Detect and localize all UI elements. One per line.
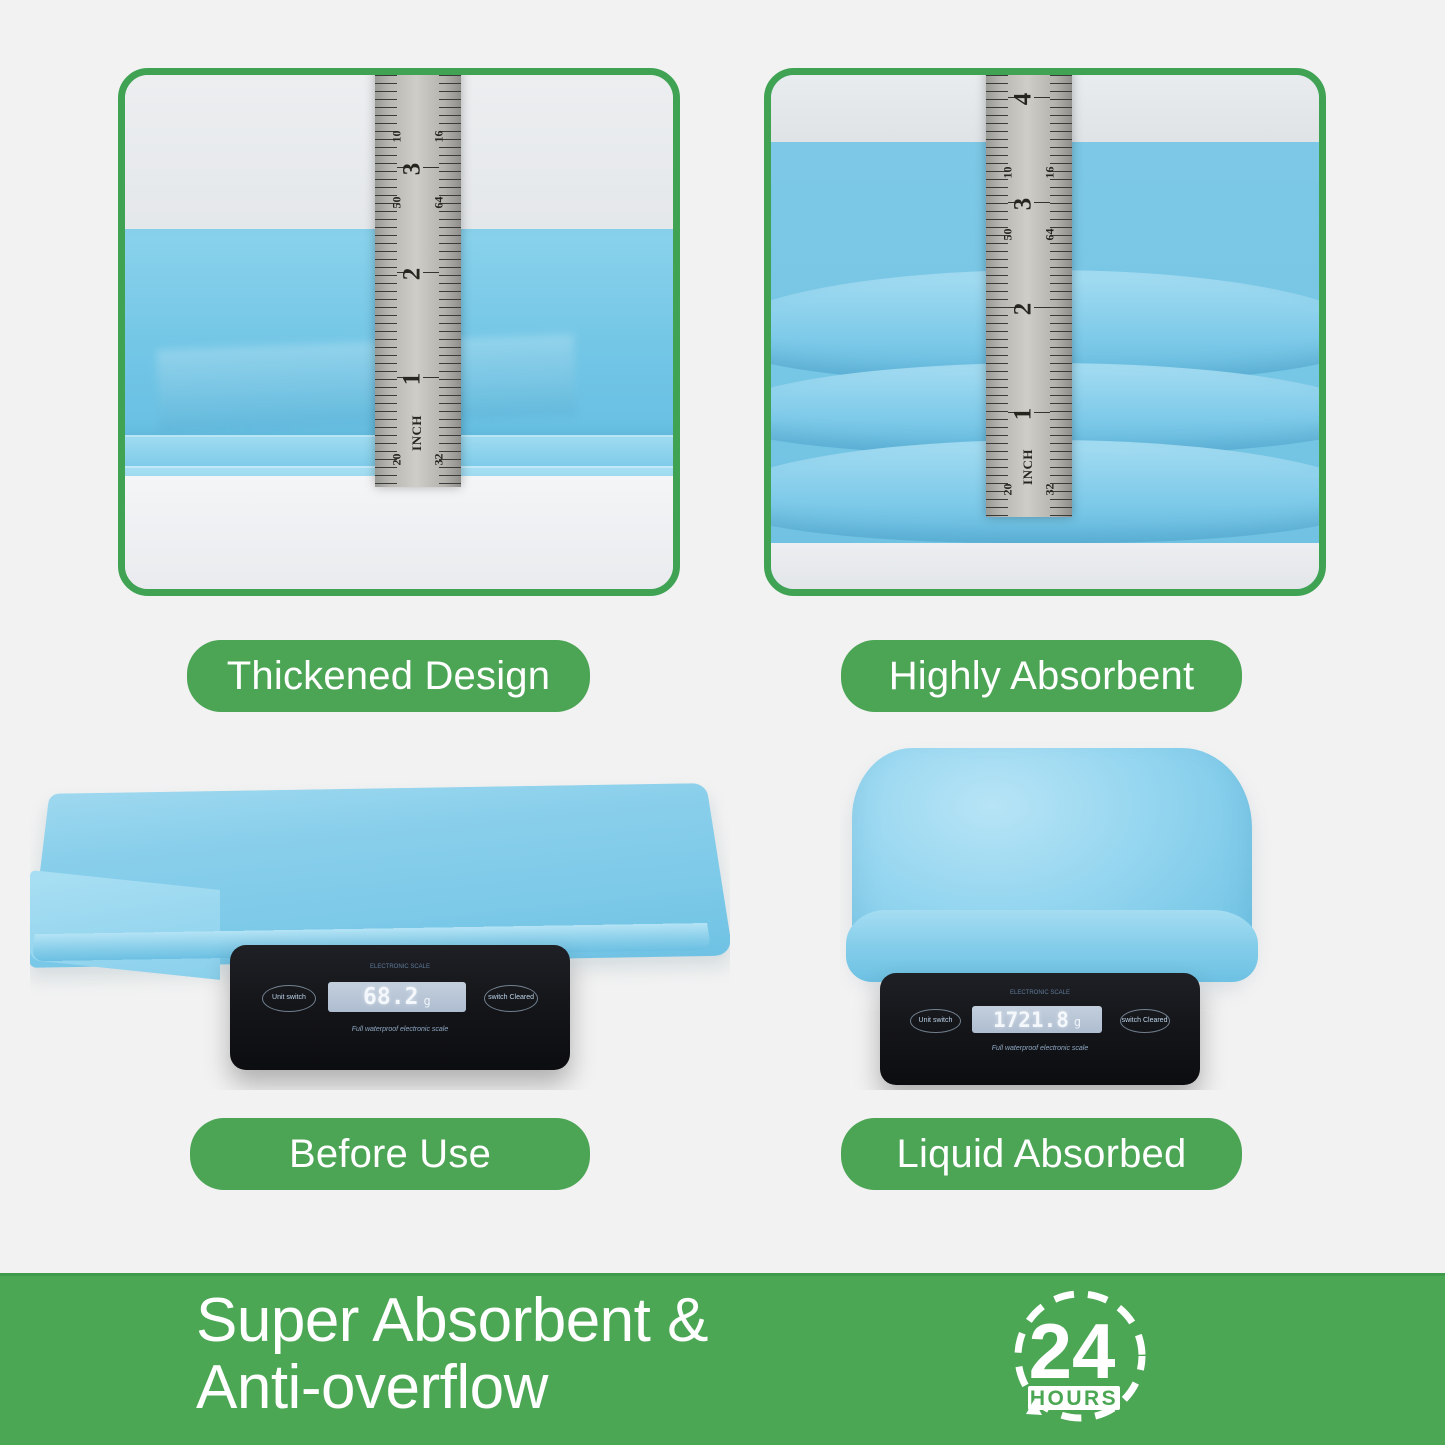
ruler-metric-left-10: 10: [1001, 167, 1016, 179]
digital-scale: ELECTRONIC SCALE Unit switch 1721.8 g sw…: [880, 973, 1200, 1085]
scale-clear-button[interactable]: switch Cleared: [1120, 1009, 1170, 1033]
ruler-unit-label: INCH: [409, 415, 425, 451]
ruler-metric-right-16: 16: [432, 131, 447, 143]
ruler-unit-label: INCH: [1020, 449, 1036, 485]
scale-control-panel: ELECTRONIC SCALE Unit switch 1721.8 g sw…: [893, 989, 1187, 1056]
scale-display: 68.2 g: [328, 982, 466, 1012]
photo-table-surface: [771, 543, 1319, 589]
scale-display: 1721.8 g: [972, 1006, 1102, 1033]
scale-tagline: Full waterproof electronic scale: [893, 1045, 1187, 1052]
scale-tagline: Full waterproof electronic scale: [244, 1026, 557, 1033]
ruler-metric-right-16: 16: [1043, 167, 1058, 179]
ruler-metric-right-32: 32: [432, 454, 447, 466]
photo-frame-thickened-design: 3 2 1 INCH 10 50 20 16 64 32: [118, 68, 680, 596]
photo-thickened-design: 3 2 1 INCH 10 50 20 16 64 32: [125, 75, 673, 589]
ruler-metric-right-64: 64: [1043, 229, 1058, 241]
label-pill-before-use: Before Use: [190, 1118, 590, 1190]
ruler-inch-mark-4: 4: [1009, 93, 1037, 106]
saturated-underpad-roll: [846, 910, 1258, 982]
ruler-inch-mark-2: 2: [1009, 303, 1037, 316]
infographic-page: 3 2 1 INCH 10 50 20 16 64 32: [0, 0, 1445, 1445]
scale-clear-button[interactable]: switch Cleared: [484, 985, 537, 1012]
ruler-metric-left-50: 50: [390, 197, 405, 209]
steel-ruler: 4 3 2 1 INCH 10 50 20 16 64 32: [986, 75, 1072, 517]
steel-ruler: 3 2 1 INCH 10 50 20 16 64 32: [375, 75, 461, 487]
photo-frame-highly-absorbent: 4 3 2 1 INCH 10 50 20 16 64 32: [764, 68, 1326, 596]
label-pill-highly-absorbent: Highly Absorbent: [841, 640, 1242, 712]
scale-clear-label: switch Cleared: [488, 994, 534, 1002]
photo-liquid-absorbed: ELECTRONIC SCALE Unit switch 1721.8 g sw…: [840, 740, 1280, 1090]
ruler-inch-mark-2: 2: [398, 268, 426, 281]
photo-before-use: ELECTRONIC SCALE Unit switch 68.2 g swit…: [30, 760, 730, 1090]
ruler-inch-mark-1: 1: [1009, 408, 1037, 421]
ruler-metric-left-20: 20: [1001, 484, 1016, 496]
scale-weight-unit: g: [423, 994, 430, 1008]
bottom-banner: Super Absorbent & Anti-overflow: [0, 1273, 1445, 1445]
scale-unit-switch-label: Unit switch: [272, 994, 306, 1002]
ruler-inch-mark-3: 3: [1009, 198, 1037, 211]
scale-clear-label: switch Cleared: [1122, 1017, 1168, 1025]
scale-brand-text: ELECTRONIC SCALE: [244, 964, 557, 970]
ruler-ticks-right: [1050, 75, 1072, 517]
banner-headline: Super Absorbent & Anti-overflow: [196, 1288, 708, 1422]
label-pill-liquid-absorbed: Liquid Absorbed: [841, 1118, 1242, 1190]
photo-table-surface: [125, 476, 673, 589]
ruler-inch-mark-1: 1: [398, 373, 426, 386]
scale-unit-switch-label: Unit switch: [919, 1017, 953, 1025]
label-text: Liquid Absorbed: [897, 1132, 1187, 1177]
ruler-metric-left-50: 50: [1001, 229, 1016, 241]
scale-weight-reading: 68.2: [363, 984, 418, 1010]
scale-weight-unit: g: [1074, 1015, 1081, 1029]
badge-number: 24: [1029, 1307, 1116, 1395]
scale-control-panel: ELECTRONIC SCALE Unit switch 68.2 g swit…: [244, 963, 557, 1038]
scale-unit-switch-button[interactable]: Unit switch: [262, 985, 315, 1012]
pad-crease: [156, 334, 575, 432]
scale-brand-text: ELECTRONIC SCALE: [893, 990, 1187, 996]
label-text: Before Use: [289, 1132, 491, 1177]
ruler-metric-left-20: 20: [390, 454, 405, 466]
clock-24-hours-icon: 24 HOURS HOURS: [1000, 1282, 1160, 1438]
label-pill-thickened-design: Thickened Design: [187, 640, 590, 712]
label-text: Highly Absorbent: [889, 654, 1195, 699]
scale-weight-reading: 1721.8: [993, 1008, 1069, 1032]
ruler-metric-right-64: 64: [432, 197, 447, 209]
badge-caption-text: HOURS: [1030, 1387, 1118, 1410]
ruler-metric-left-10: 10: [390, 131, 405, 143]
label-text: Thickened Design: [227, 654, 550, 699]
scale-unit-switch-button[interactable]: Unit switch: [910, 1009, 960, 1033]
ruler-ticks-left: [986, 75, 1008, 517]
ruler-inch-mark-3: 3: [398, 163, 426, 176]
ruler-metric-right-32: 32: [1043, 484, 1058, 496]
photo-highly-absorbent: 4 3 2 1 INCH 10 50 20 16 64 32: [771, 75, 1319, 589]
digital-scale: ELECTRONIC SCALE Unit switch 68.2 g swit…: [230, 945, 570, 1070]
